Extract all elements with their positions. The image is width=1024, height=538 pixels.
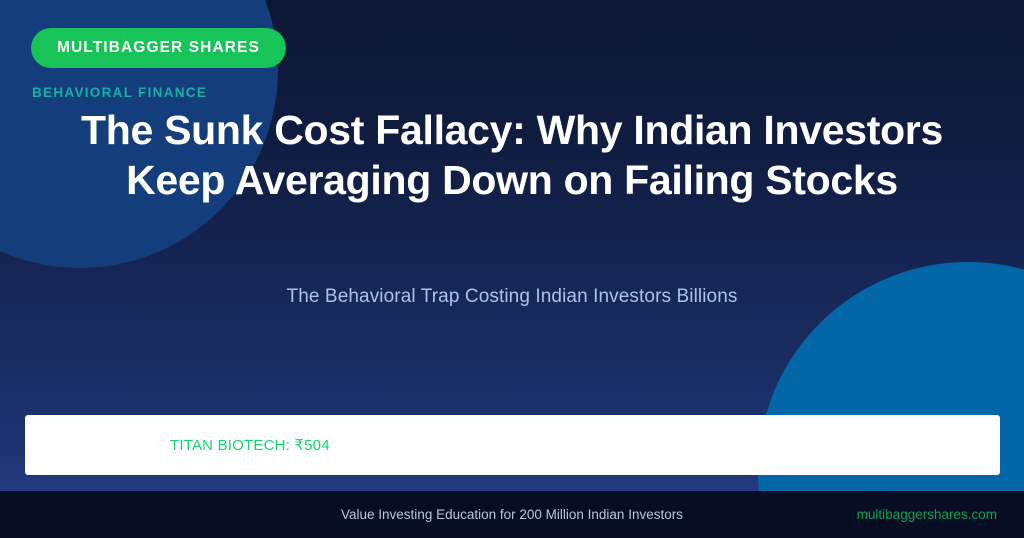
ticker-item: TITAN BIOTECH: ₹504 xyxy=(25,436,330,454)
category-label: BEHAVIORAL FINANCE xyxy=(32,85,207,100)
page-title: The Sunk Cost Fallacy: Why Indian Invest… xyxy=(62,105,962,205)
social-share-card: MULTIBAGGER SHARES BEHAVIORAL FINANCE Th… xyxy=(0,0,1024,538)
footer-bar: Value Investing Education for 200 Millio… xyxy=(0,491,1024,538)
brand-badge: MULTIBAGGER SHARES xyxy=(31,28,286,68)
subtitle: The Behavioral Trap Costing Indian Inves… xyxy=(62,286,962,308)
footer-website-link[interactable]: multibaggershares.com xyxy=(857,491,997,538)
stock-ticker-bar: TITAN BIOTECH: ₹504 xyxy=(25,415,1000,475)
card-content: MULTIBAGGER SHARES BEHAVIORAL FINANCE Th… xyxy=(0,0,1024,491)
